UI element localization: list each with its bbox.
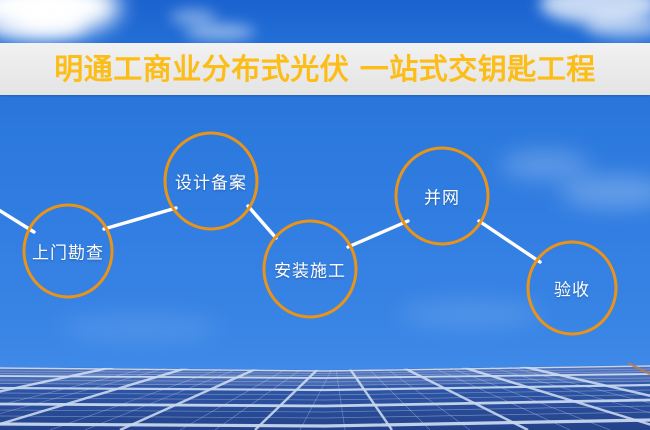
flow-step-4-label: 并网: [424, 184, 460, 209]
flow-step-5-label: 验收: [554, 276, 590, 301]
flow-step-1-label: 上门勘查: [32, 239, 104, 264]
title-banner: 明通工商业分布式光伏 一站式交钥匙工程: [0, 43, 650, 95]
solar-panel-array: [0, 352, 650, 430]
page-title: 明通工商业分布式光伏 一站式交钥匙工程: [54, 55, 596, 84]
slide-canvas: 明通工商业分布式光伏 一站式交钥匙工程: [0, 0, 650, 430]
flow-step-3-label: 安装施工: [274, 257, 346, 282]
flow-step-2-label: 设计备案: [175, 169, 247, 194]
